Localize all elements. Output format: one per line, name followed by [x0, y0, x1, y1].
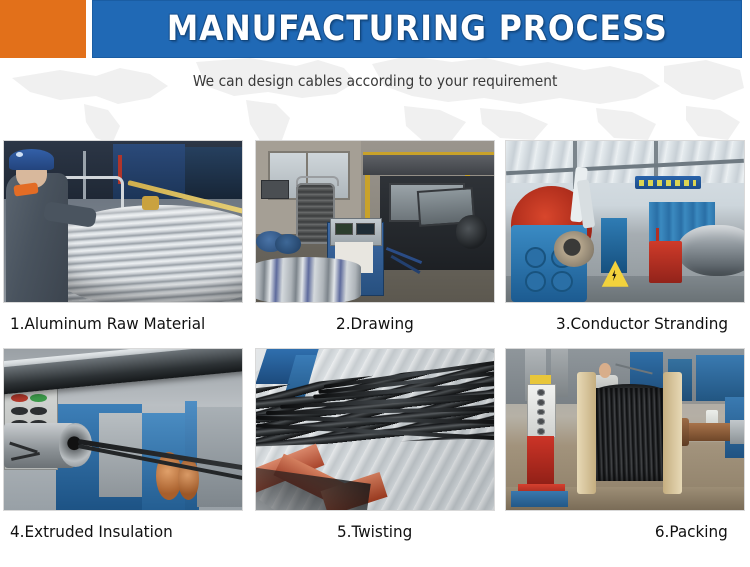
process-step-3: 3.Conductor Stranding	[500, 140, 750, 348]
step-4-photo	[3, 348, 243, 511]
step-2-caption: 2.Drawing	[336, 314, 414, 333]
manufacturing-process-banner: MANUFACTURING PROCESS We can design cabl…	[0, 0, 750, 567]
step-4-caption: 4.Extruded Insulation	[10, 522, 173, 541]
process-step-1: 1.Aluminum Raw Material	[0, 140, 250, 348]
subtitle-row: We can design cables according to your r…	[0, 66, 750, 96]
process-step-5: 5.Twisting	[250, 348, 500, 556]
step-6-caption: 6.Packing	[655, 522, 728, 541]
orange-accent-block	[0, 0, 86, 58]
process-steps-grid: 1.Aluminum Raw Material 2	[0, 140, 750, 556]
title-bar: MANUFACTURING PROCESS	[92, 0, 742, 58]
step-1-photo	[3, 140, 243, 303]
process-step-2: 2.Drawing	[250, 140, 500, 348]
page-title: MANUFACTURING PROCESS	[167, 9, 668, 49]
step-2-photo	[255, 140, 495, 303]
process-step-6: 6.Packing	[500, 348, 750, 556]
step-5-caption: 5.Twisting	[337, 522, 412, 541]
page-subtitle: We can design cables according to your r…	[193, 72, 558, 90]
step-3-photo	[505, 140, 745, 303]
banner-header: MANUFACTURING PROCESS	[0, 0, 750, 60]
step-5-photo	[255, 348, 495, 511]
process-step-4: 4.Extruded Insulation	[0, 348, 250, 556]
step-1-caption: 1.Aluminum Raw Material	[10, 314, 205, 333]
step-3-caption: 3.Conductor Stranding	[556, 314, 728, 333]
step-6-photo	[505, 348, 745, 511]
